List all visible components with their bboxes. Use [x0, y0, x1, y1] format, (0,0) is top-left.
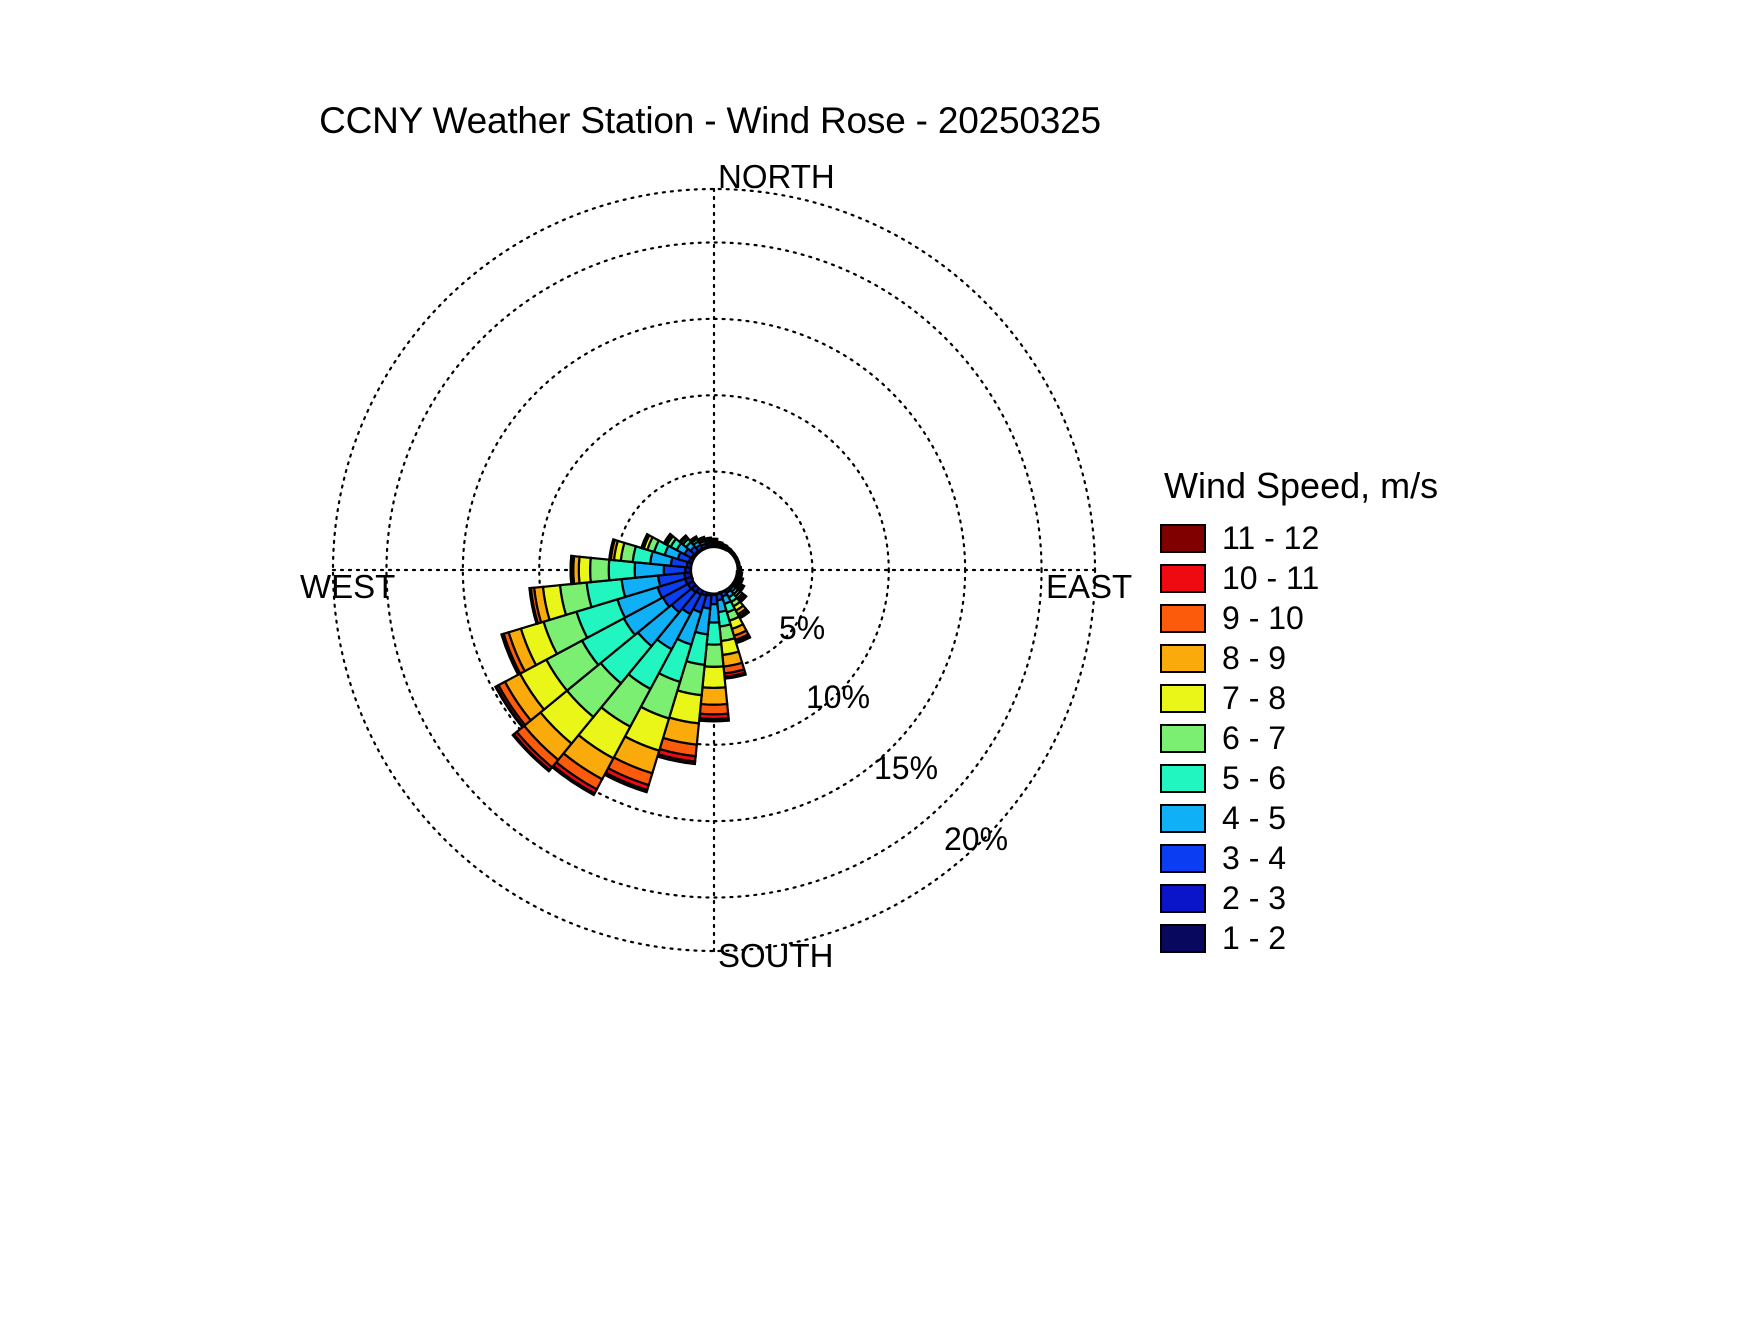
legend-item[interactable]: 7 - 8 [1160, 678, 1560, 718]
petal-segment [590, 558, 609, 582]
legend-label: 1 - 2 [1222, 920, 1286, 957]
legend-swatch [1160, 524, 1206, 553]
legend-swatch [1160, 884, 1206, 913]
compass-label-south: SOUTH [718, 937, 834, 975]
legend-label: 11 - 12 [1222, 520, 1319, 557]
legend-item[interactable]: 1 - 2 [1160, 918, 1560, 958]
calm-circle [692, 548, 736, 592]
legend-swatch [1160, 924, 1206, 953]
legend: Wind Speed, m/s 11 - 1210 - 119 - 108 - … [1160, 465, 1560, 958]
legend-item[interactable]: 9 - 10 [1160, 598, 1560, 638]
legend-item[interactable]: 4 - 5 [1160, 798, 1560, 838]
petal-segment [571, 556, 572, 584]
legend-item[interactable]: 6 - 7 [1160, 718, 1560, 758]
legend-item[interactable]: 10 - 11 [1160, 558, 1560, 598]
compass-label-west: WEST [300, 568, 395, 606]
legend-title: Wind Speed, m/s [1164, 465, 1560, 507]
legend-swatch [1160, 564, 1206, 593]
legend-swatch [1160, 644, 1206, 673]
petal-segment [699, 718, 729, 721]
legend-swatch [1160, 764, 1206, 793]
legend-label: 9 - 10 [1222, 600, 1304, 637]
compass-label-east: EAST [1046, 568, 1132, 606]
legend-label: 3 - 4 [1222, 840, 1286, 877]
petal-segment [579, 557, 591, 584]
petal-segment [702, 666, 725, 688]
legend-swatch [1160, 844, 1206, 873]
radial-tick-10: 10% [806, 679, 870, 716]
legend-label: 10 - 11 [1222, 560, 1319, 597]
petal-segment [701, 687, 727, 704]
legend-item[interactable]: 11 - 12 [1160, 518, 1560, 558]
legend-item[interactable]: 8 - 9 [1160, 638, 1560, 678]
radial-tick-20: 20% [944, 821, 1008, 858]
legend-rows: 11 - 1210 - 119 - 108 - 97 - 86 - 75 - 6… [1160, 518, 1560, 958]
legend-swatch [1160, 724, 1206, 753]
petal-segment [705, 538, 711, 539]
legend-swatch [1160, 804, 1206, 833]
legend-swatch [1160, 684, 1206, 713]
legend-label: 2 - 3 [1222, 880, 1286, 917]
legend-label: 5 - 6 [1222, 760, 1286, 797]
compass-label-north: NORTH [718, 158, 835, 196]
legend-item[interactable]: 5 - 6 [1160, 758, 1560, 798]
legend-swatch [1160, 604, 1206, 633]
legend-label: 8 - 9 [1222, 640, 1286, 677]
legend-label: 4 - 5 [1222, 800, 1286, 837]
legend-item[interactable]: 3 - 4 [1160, 838, 1560, 878]
legend-label: 7 - 8 [1222, 680, 1286, 717]
legend-label: 6 - 7 [1222, 720, 1286, 757]
legend-item[interactable]: 2 - 3 [1160, 878, 1560, 918]
petal-segment [700, 704, 728, 714]
radial-tick-15: 15% [874, 750, 938, 787]
radial-tick-5: 5% [779, 610, 825, 647]
wind-rose-figure: CCNY Weather Station - Wind Rose - 20250… [0, 0, 1750, 1313]
